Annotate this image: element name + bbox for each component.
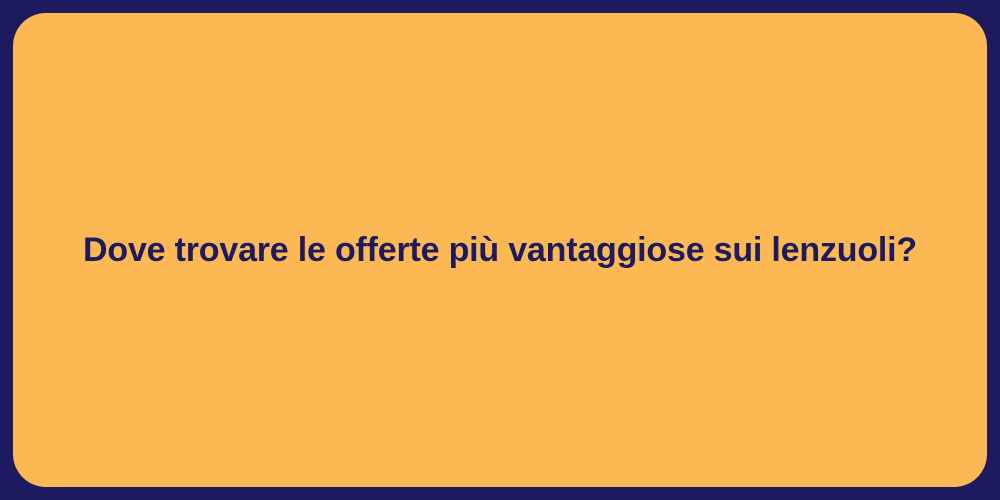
banner-headline: Dove trovare le offerte più vantaggiose … (83, 229, 917, 272)
banner-panel: Dove trovare le offerte più vantaggiose … (13, 13, 987, 487)
banner-frame: Dove trovare le offerte più vantaggiose … (0, 0, 1000, 500)
